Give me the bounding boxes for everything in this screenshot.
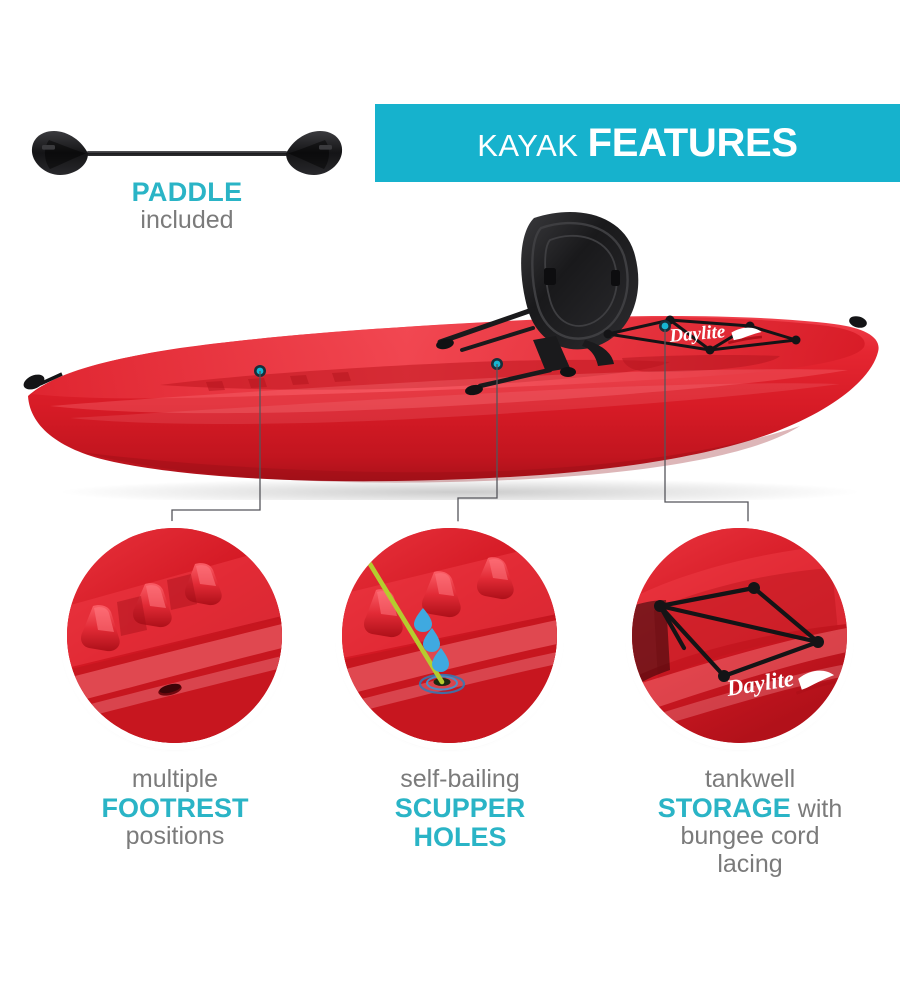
kayak-paddle-icon bbox=[22, 125, 352, 185]
scupper-hole-drainage-icon bbox=[342, 528, 557, 743]
caption-footrest-line3: positions bbox=[35, 823, 315, 851]
caption-tankwell-line2-bold: STORAGE bbox=[658, 793, 791, 823]
caption-footrest-line2: FOOTREST bbox=[35, 794, 315, 824]
caption-scupper: self-bailing SCUPPER HOLES bbox=[320, 766, 600, 853]
caption-footrest: multiple FOOTREST positions bbox=[35, 766, 315, 851]
feature-circle-tankwell: Daylite bbox=[632, 528, 847, 743]
caption-tankwell: tankwell STORAGE with bungee cord lacing bbox=[610, 766, 890, 878]
caption-tankwell-line1: tankwell bbox=[610, 766, 890, 794]
paddle-illustration bbox=[22, 125, 352, 185]
kayak-features-banner: KAYAK FEATURES bbox=[375, 104, 900, 182]
leader-line-tankwell bbox=[665, 330, 748, 542]
caption-tankwell-line3: bungee cord bbox=[610, 823, 890, 851]
banner-title: KAYAK FEATURES bbox=[477, 123, 798, 163]
feature-circle-footrest bbox=[67, 528, 282, 743]
callout-leader-lines bbox=[0, 330, 900, 550]
caption-scupper-line3: HOLES bbox=[320, 823, 600, 853]
infographic-canvas: KAYAK FEATURES bbox=[0, 0, 900, 1000]
footrest-ridges-icon bbox=[67, 528, 282, 743]
banner-title-light: KAYAK bbox=[477, 128, 587, 163]
caption-tankwell-line2: STORAGE with bbox=[610, 794, 890, 824]
leader-line-scupper bbox=[458, 364, 497, 542]
feature-circle-scupper bbox=[342, 528, 557, 743]
banner-title-bold: FEATURES bbox=[588, 121, 798, 165]
caption-tankwell-line2-light: with bbox=[791, 795, 842, 823]
caption-scupper-line1: self-bailing bbox=[320, 766, 600, 794]
caption-footrest-line1: multiple bbox=[35, 766, 315, 794]
leader-line-footrest bbox=[172, 371, 260, 542]
caption-tankwell-line4: lacing bbox=[610, 851, 890, 879]
caption-scupper-line2: SCUPPER bbox=[320, 794, 600, 824]
tankwell-bungee-cord-icon: Daylite bbox=[632, 528, 847, 743]
